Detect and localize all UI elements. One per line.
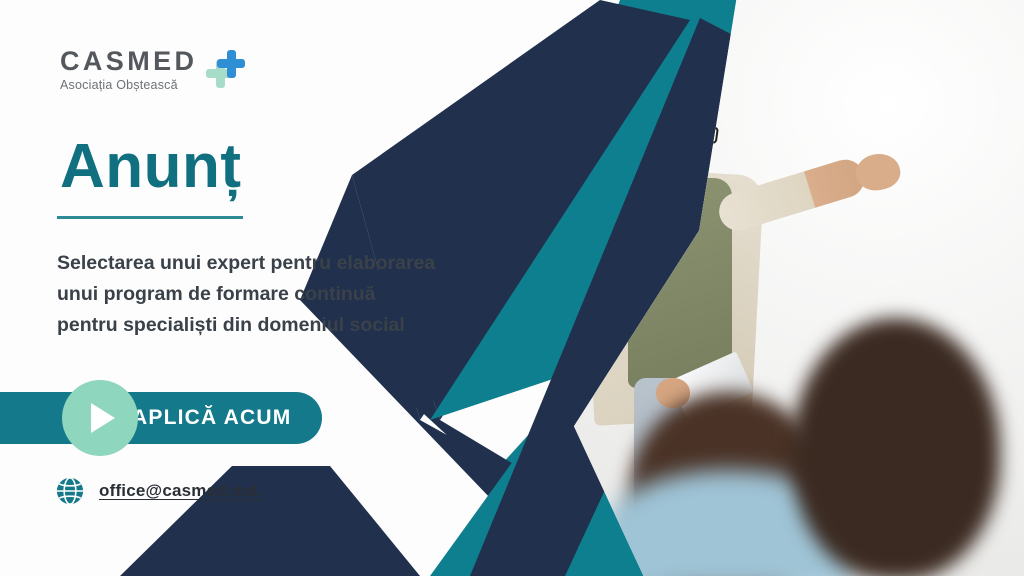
- content-column: CASMED Asociația Obștească Anunț Selecta…: [0, 0, 1024, 576]
- play-icon[interactable]: [62, 380, 138, 456]
- brand-name: CASMED: [60, 48, 197, 75]
- globe-icon: [55, 476, 85, 506]
- announcement-body: Selectarea unui expert pentru elaborarea…: [57, 248, 497, 340]
- title-underline-rule: [57, 216, 243, 219]
- body-line-2: unui program de formare continuă: [57, 279, 497, 310]
- brand-logo-text: CASMED Asociația Obștească: [60, 48, 197, 92]
- poster-canvas: CASMED Asociația Obștească Anunț Selecta…: [0, 0, 1024, 576]
- apply-now-button[interactable]: APLICĂ ACUM: [0, 392, 322, 444]
- page-title: Anunț: [60, 136, 242, 198]
- body-line-1: Selectarea unui expert pentru elaborarea: [57, 248, 497, 279]
- body-line-3: pentru specialiști din domeniul social: [57, 310, 497, 341]
- brand-logo: CASMED Asociația Obștească: [60, 48, 246, 92]
- play-triangle: [91, 403, 115, 433]
- cross-blue-icon: [217, 50, 245, 78]
- apply-now-label: APLICĂ ACUM: [132, 406, 291, 430]
- double-cross-medical-icon: [206, 50, 246, 90]
- contact-email[interactable]: office@casmed.md.: [99, 481, 263, 501]
- brand-tagline: Asociația Obștească: [60, 79, 197, 92]
- contact-row[interactable]: office@casmed.md.: [55, 476, 263, 506]
